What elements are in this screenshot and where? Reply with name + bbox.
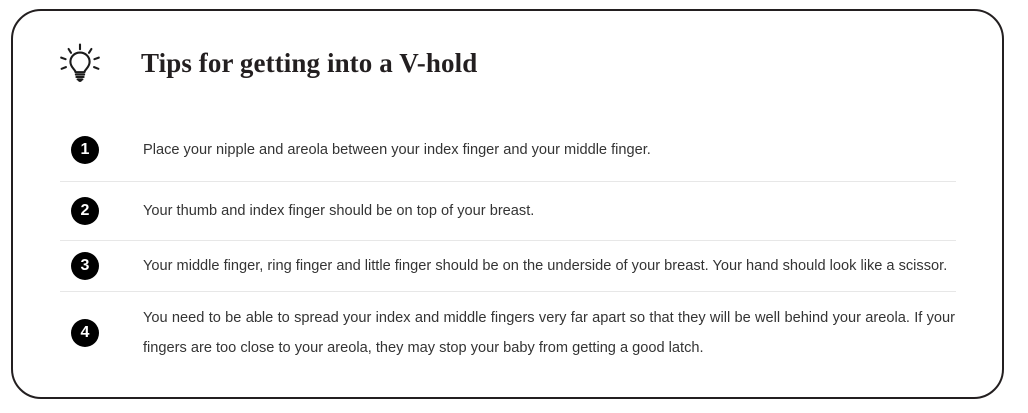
- tip-number-badge: 4: [71, 319, 99, 347]
- page-title: Tips for getting into a V-hold: [141, 48, 477, 79]
- tip-number-cell: 2: [60, 196, 143, 226]
- tip-number-cell: 1: [60, 135, 143, 165]
- card-header: Tips for getting into a V-hold: [13, 33, 1002, 95]
- tip-text: Place your nipple and areola between you…: [143, 135, 956, 165]
- lightbulb-icon: [57, 41, 103, 87]
- tip-number-cell: 4: [60, 303, 143, 363]
- tip-number-cell: 3: [60, 251, 143, 281]
- tips-list: 1 Place your nipple and areola between y…: [60, 129, 956, 375]
- tip-number-badge: 3: [71, 252, 99, 280]
- tips-card: Tips for getting into a V-hold 1 Place y…: [11, 9, 1004, 399]
- list-item: 2 Your thumb and index finger should be …: [60, 181, 956, 240]
- tip-text: You need to be able to spread your index…: [143, 303, 956, 363]
- list-item: 3 Your middle finger, ring finger and li…: [60, 240, 956, 291]
- tip-text: Your thumb and index finger should be on…: [143, 196, 956, 226]
- list-item: 1 Place your nipple and areola between y…: [60, 129, 956, 181]
- tip-number-badge: 1: [71, 136, 99, 164]
- tip-text: Your middle finger, ring finger and litt…: [143, 251, 956, 281]
- tip-number-badge: 2: [71, 197, 99, 225]
- list-item: 4 You need to be able to spread your ind…: [60, 291, 956, 375]
